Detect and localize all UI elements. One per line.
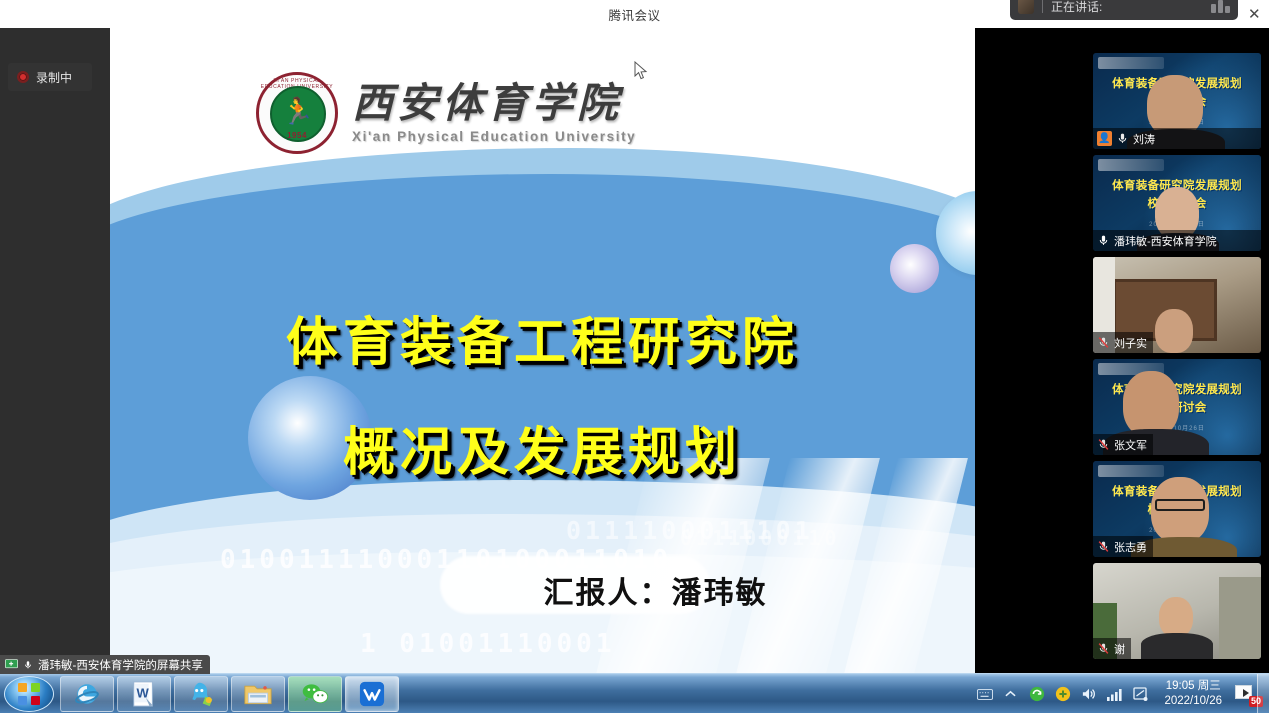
tile-footer: 刘子实 <box>1093 332 1153 353</box>
participant-tile[interactable]: 体育装备研究院发展规划 校内研讨会 2022年10月26日 潘玮敏-西安体育学院 <box>1093 155 1261 251</box>
taskbar-item-wechat[interactable] <box>288 676 342 712</box>
tencent-meeting-icon <box>359 681 385 707</box>
record-dot-icon <box>17 71 29 83</box>
taskbar-app-list[interactable]: W <box>60 676 399 712</box>
microphone-muted-icon[interactable] <box>1097 336 1110 349</box>
slide-title-line-2: 概况及发展规划 <box>110 410 975 485</box>
participant-name: 刘子实 <box>1114 335 1147 351</box>
taskbar-item-internet-explorer[interactable] <box>60 676 114 712</box>
monitor-icon <box>5 659 18 670</box>
signal-icon[interactable] <box>1106 686 1123 703</box>
taskbar-item-microsoft-word[interactable]: W <box>117 676 171 712</box>
clock-time: 19:05 周三 <box>1164 679 1222 694</box>
chevron-up-icon[interactable] <box>1002 686 1019 703</box>
system-tray[interactable]: 19:05 周三 2022/10/26 50 <box>976 674 1269 713</box>
tile-ppt-logo <box>1098 465 1164 477</box>
microphone-icon[interactable] <box>1116 132 1129 145</box>
participant-tile[interactable]: 体育装备研究院发展规划 校内研讨会 2022年10月26日 张文军 <box>1093 359 1261 455</box>
participant-tile[interactable]: 谢 <box>1093 563 1261 659</box>
university-wordmark: 西安体育学院 Xi'an Physical Education Universi… <box>352 83 636 144</box>
mouse-cursor-icon <box>634 61 648 81</box>
microsoft-word-icon: W <box>132 681 156 707</box>
screen: 腾讯会议 录制中 0111000110 0111100011101 010011… <box>0 0 1269 713</box>
participant-name: 刘涛 <box>1133 131 1155 147</box>
tile-footer: 张文军 <box>1093 434 1153 455</box>
person-head <box>1159 597 1193 637</box>
participant-tile[interactable]: 刘子实 <box>1093 257 1261 353</box>
microphone-icon <box>23 659 33 671</box>
shield-plus-icon[interactable] <box>1054 686 1071 703</box>
participant-name: 潘玮敏-西安体育学院 <box>1114 233 1217 249</box>
participant-name: 张志勇 <box>1114 539 1147 555</box>
participant-strip[interactable]: 体育装备研究院发展规划 校内研讨会 2022年10月26日 👤 刘涛 体育装备研… <box>1029 28 1269 678</box>
participant-tile[interactable]: 体育装备研究院发展规划 校内研讨会 2022年10月26日 👤 刘涛 <box>1093 53 1261 149</box>
person-head <box>1123 371 1179 437</box>
shelf <box>1219 577 1261 659</box>
university-seal-icon: XI'AN PHYSICAL EDUCATION UNIVERSITY 🏃 19… <box>256 72 338 154</box>
tile-ppt-logo <box>1098 57 1164 69</box>
tile-footer: 谢 <box>1093 638 1131 659</box>
tile-footer: 张志勇 <box>1093 536 1153 557</box>
participant-name: 谢 <box>1114 641 1125 657</box>
taskbar-clock[interactable]: 19:05 周三 2022/10/26 <box>1164 679 1222 709</box>
university-name-cn: 西安体育学院 <box>352 83 636 124</box>
microphone-muted-icon[interactable] <box>1097 642 1110 655</box>
tile-footer: 潘玮敏-西安体育学院 <box>1093 230 1261 251</box>
slide-title-line-1: 体育装备工程研究院 <box>110 300 975 375</box>
avatar-icon: 👤 <box>1097 131 1112 146</box>
speaking-toast[interactable]: 正在讲话: <box>1010 0 1238 20</box>
show-desktop-button[interactable] <box>1257 674 1269 713</box>
recording-label: 录制中 <box>36 69 72 86</box>
windows-logo-icon <box>18 683 40 705</box>
recording-indicator[interactable]: 录制中 <box>8 63 92 91</box>
university-logo: XI'AN PHYSICAL EDUCATION UNIVERSITY 🏃 19… <box>256 72 636 154</box>
tile-ppt-logo <box>1098 159 1164 171</box>
person-torso <box>1141 633 1213 659</box>
clock-date: 2022/10/26 <box>1164 694 1222 709</box>
microphone-muted-icon[interactable] <box>1097 540 1110 553</box>
network-icon[interactable] <box>1132 686 1149 703</box>
wechat-icon <box>301 682 329 706</box>
eyeglasses-icon <box>1155 499 1205 511</box>
close-icon[interactable]: ✕ <box>1248 7 1261 22</box>
start-button[interactable] <box>4 676 54 712</box>
svg-text:W: W <box>137 686 150 701</box>
tile-footer: 👤 刘涛 <box>1093 128 1261 149</box>
window-title: 腾讯会议 <box>608 5 660 24</box>
participant-name: 张文军 <box>1114 437 1147 453</box>
seal-year: 1954 <box>259 131 335 140</box>
taskbar-item-qq[interactable] <box>174 676 228 712</box>
internet-explorer-icon <box>74 681 100 707</box>
slide-presenter: 汇报人：潘玮敏 <box>110 568 975 612</box>
audio-wave-icon <box>1211 0 1230 13</box>
taskbar-item-tencent-meeting[interactable] <box>345 676 399 712</box>
participant-tile[interactable]: 体育装备研究院发展规划 校内研讨会 2022年10月26日 张志勇 <box>1093 461 1261 557</box>
microphone-icon[interactable] <box>1097 234 1110 247</box>
runner-icon: 🏃 <box>282 98 314 124</box>
university-name-en: Xi'an Physical Education University <box>352 129 636 144</box>
sync-icon[interactable] <box>1028 686 1045 703</box>
folder-icon <box>244 682 272 706</box>
qq-icon <box>187 681 215 707</box>
toast-divider <box>1042 0 1043 13</box>
taskbar-item-file-explorer[interactable] <box>231 676 285 712</box>
decorative-sphere-small <box>890 244 939 293</box>
speaking-label: 正在讲话: <box>1051 0 1102 15</box>
screen-share-text: 潘玮敏-西安体育学院的屏幕共享 <box>38 657 203 673</box>
speaker-avatar <box>1018 0 1034 14</box>
windows-taskbar[interactable]: W <box>0 673 1269 713</box>
microphone-muted-icon[interactable] <box>1097 438 1110 451</box>
person-head <box>1155 309 1193 353</box>
screen-share-label: 潘玮敏-西安体育学院的屏幕共享 <box>0 655 210 674</box>
shared-screen-slide[interactable]: 0111000110 0111100011101 010011110001101… <box>110 28 975 678</box>
left-gutter <box>0 28 110 678</box>
keyboard-icon[interactable] <box>976 686 993 703</box>
volume-icon[interactable] <box>1080 686 1097 703</box>
